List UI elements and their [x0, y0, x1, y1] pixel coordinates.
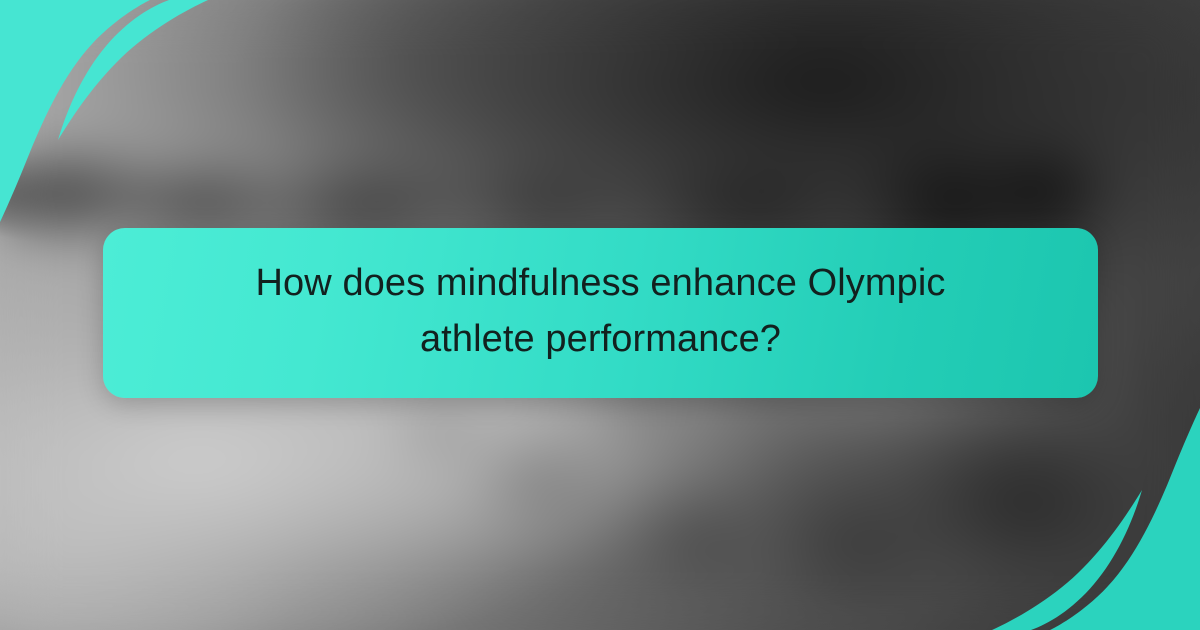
social-card-canvas: How does mindfulness enhance Olympic ath…	[0, 0, 1200, 630]
question-card: How does mindfulness enhance Olympic ath…	[103, 228, 1098, 398]
question-text: How does mindfulness enhance Olympic ath…	[211, 255, 991, 367]
